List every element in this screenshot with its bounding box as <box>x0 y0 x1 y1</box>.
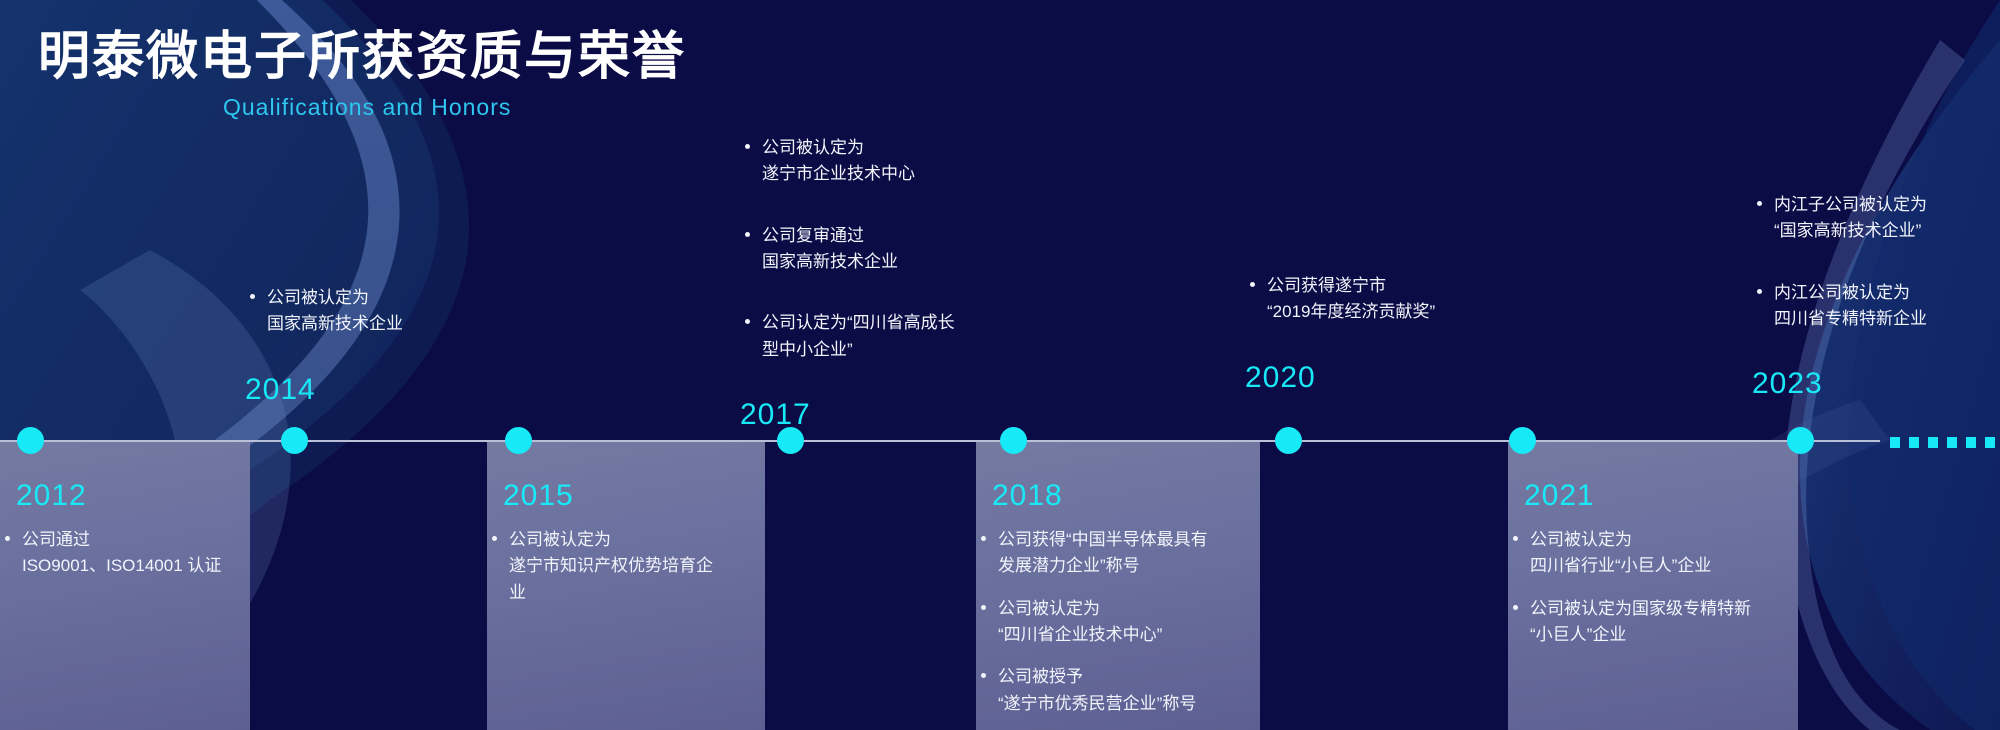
year-2018-items: 公司获得“中国半导体最具有 发展潜力企业”称号公司被认定为 “四川省企业技术中心… <box>976 527 1256 717</box>
timeline-panel-2018[interactable]: 2018公司获得“中国半导体最具有 发展潜力企业”称号公司被认定为 “四川省企业… <box>976 441 1260 730</box>
axis-dash <box>1985 437 1995 448</box>
year-2012-item-1: 公司通过 ISO9001、ISO14001 认证 <box>0 527 246 580</box>
year-2014-item-1: 公司被认定为 国家高新技术企业 <box>245 285 545 338</box>
year-2023-items: 内江子公司被认定为 “国家高新技术企业”内江公司被认定为 四川省专精特新企业 <box>1752 192 2000 332</box>
timeline-dot-4[interactable] <box>777 427 804 454</box>
year-2021-item-2: 公司被认定为国家级专精特新 “小巨人”企业 <box>1508 596 1794 649</box>
timeline-dot-8[interactable] <box>1787 427 1814 454</box>
year-label-2012: 2012 <box>16 479 87 513</box>
year-2014-items: 公司被认定为 国家高新技术企业 <box>245 285 545 338</box>
timeline-group-2023: 内江子公司被认定为 “国家高新技术企业”内江公司被认定为 四川省专精特新企业20… <box>1752 192 2000 401</box>
page-title: 明泰微电子所获资质与荣誉 <box>38 28 686 88</box>
year-2017-item-3: 公司认定为“四川省高成长 型中小企业” <box>740 310 1060 363</box>
timeline-panel-2021[interactable]: 2021公司被认定为 四川省行业“小巨人”企业公司被认定为国家级专精特新 “小巨… <box>1508 441 1798 730</box>
timeline-dot-5[interactable] <box>1000 427 1027 454</box>
panel-body-2012: 公司通过 ISO9001、ISO14001 认证 <box>0 527 246 596</box>
year-2015-items: 公司被认定为 遂宁市知识产权优势培育企 业 <box>487 527 761 606</box>
year-label-2018: 2018 <box>992 479 1063 513</box>
year-2015-item-1: 公司被认定为 遂宁市知识产权优势培育企 业 <box>487 527 761 606</box>
timeline-panel-2015[interactable]: 2015公司被认定为 遂宁市知识产权优势培育企 业 <box>487 441 765 730</box>
axis-dash <box>1947 437 1957 448</box>
panel-body-2021: 公司被认定为 四川省行业“小巨人”企业公司被认定为国家级专精特新 “小巨人”企业 <box>1508 527 1794 664</box>
timeline-dot-6[interactable] <box>1275 427 1302 454</box>
timeline-dot-3[interactable] <box>505 427 532 454</box>
year-2020-items: 公司获得遂宁市 “2019年度经济贡献奖” <box>1245 273 1565 326</box>
year-2018-item-2: 公司被认定为 “四川省企业技术中心” <box>976 596 1256 649</box>
timeline-group-2014: 公司被认定为 国家高新技术企业2014 <box>245 285 545 407</box>
panel-body-2018: 公司获得“中国半导体最具有 发展潜力企业”称号公司被认定为 “四川省企业技术中心… <box>976 527 1256 730</box>
panel-body-2015: 公司被认定为 遂宁市知识产权优势培育企 业 <box>487 527 761 622</box>
timeline-axis-dashes <box>1890 437 1995 448</box>
timeline-group-2020: 公司获得遂宁市 “2019年度经济贡献奖”2020 <box>1245 273 1565 395</box>
year-label-2014: 2014 <box>245 373 545 407</box>
year-2017-item-1: 公司被认定为 遂宁市企业技术中心 <box>740 135 1060 188</box>
axis-dash <box>1890 437 1900 448</box>
year-2017-item-2: 公司复审通过 国家高新技术企业 <box>740 223 1060 276</box>
year-2017-items: 公司被认定为 遂宁市企业技术中心公司复审通过 国家高新技术企业公司认定为“四川省… <box>740 135 1060 363</box>
timeline-dot-1[interactable] <box>17 427 44 454</box>
axis-dash <box>1909 437 1919 448</box>
axis-dash <box>1966 437 1976 448</box>
header: 明泰微电子所获资质与荣誉 Qualifications and Honors <box>38 28 686 121</box>
year-2012-items: 公司通过 ISO9001、ISO14001 认证 <box>0 527 246 580</box>
year-2018-item-1: 公司获得“中国半导体最具有 发展潜力企业”称号 <box>976 527 1256 580</box>
timeline-dot-7[interactable] <box>1509 427 1536 454</box>
year-label-2023: 2023 <box>1752 367 2000 401</box>
year-label-2015: 2015 <box>503 479 574 513</box>
year-2023-item-2: 内江公司被认定为 四川省专精特新企业 <box>1752 280 2000 333</box>
slide-canvas: 明泰微电子所获资质与荣誉 Qualifications and Honors 公… <box>0 0 2000 730</box>
axis-dash <box>1928 437 1938 448</box>
year-2023-item-1: 内江子公司被认定为 “国家高新技术企业” <box>1752 192 2000 245</box>
page-subtitle: Qualifications and Honors <box>223 94 686 121</box>
year-label-2020: 2020 <box>1245 361 1565 395</box>
year-2018-item-3: 公司被授予 “遂宁市优秀民营企业”称号 <box>976 664 1256 717</box>
timeline-dot-2[interactable] <box>281 427 308 454</box>
year-2021-item-1: 公司被认定为 四川省行业“小巨人”企业 <box>1508 527 1794 580</box>
year-2021-items: 公司被认定为 四川省行业“小巨人”企业公司被认定为国家级专精特新 “小巨人”企业 <box>1508 527 1794 648</box>
year-2020-item-1: 公司获得遂宁市 “2019年度经济贡献奖” <box>1245 273 1565 326</box>
timeline-panel-2012[interactable]: 2012公司通过 ISO9001、ISO14001 认证 <box>0 441 250 730</box>
timeline-group-2017: 公司被认定为 遂宁市企业技术中心公司复审通过 国家高新技术企业公司认定为“四川省… <box>740 135 1060 432</box>
year-label-2021: 2021 <box>1524 479 1595 513</box>
